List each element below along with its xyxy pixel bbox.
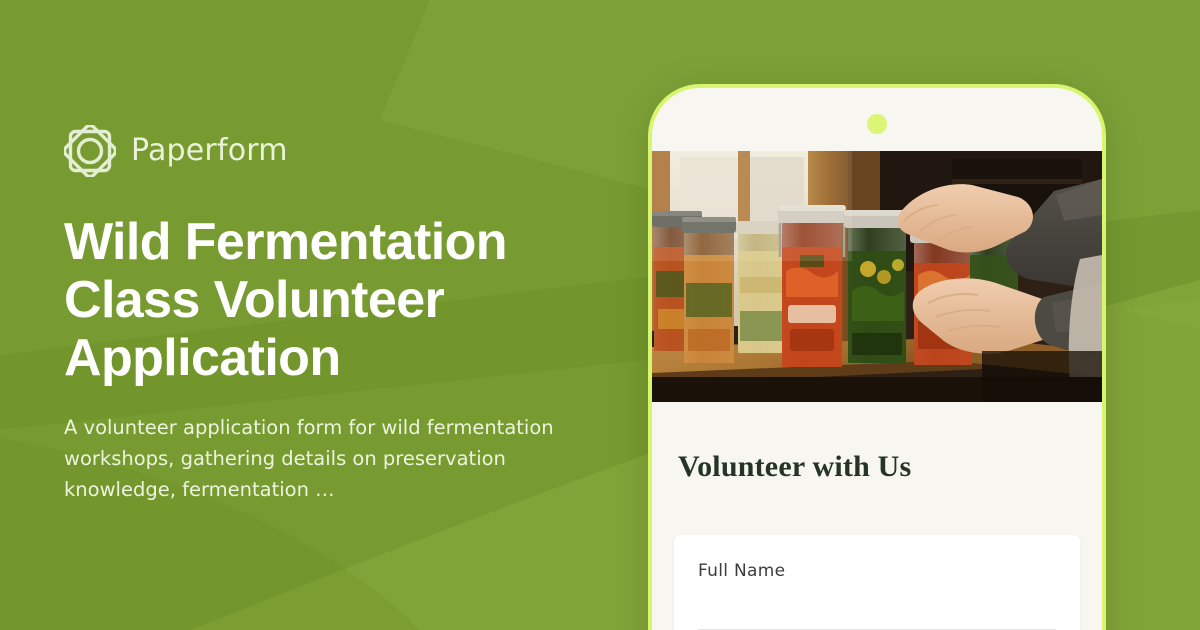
share-card: Paperform Wild Fermentation Class Volunt…: [0, 0, 1200, 630]
paperform-star-logo-icon: [64, 125, 116, 177]
form-field-full-name[interactable]: Full Name: [674, 535, 1080, 630]
page-title: Wild Fermentation Class Volunteer Applic…: [64, 213, 534, 388]
form-body: Volunteer with Us Full Name: [652, 402, 1102, 630]
field-label-full-name: Full Name: [698, 561, 1056, 581]
phone-mockup: Volunteer with Us Full Name: [648, 84, 1106, 630]
brand-lockup: Paperform: [64, 125, 624, 177]
camera-dot-icon: [867, 114, 887, 134]
form-title: Volunteer with Us: [678, 450, 1080, 484]
hero-photo: [652, 151, 1102, 402]
left-content: Paperform Wild Fermentation Class Volunt…: [64, 0, 624, 630]
page-description: A volunteer application form for wild fe…: [64, 413, 574, 505]
brand-wordmark: Paperform: [131, 136, 288, 166]
phone-screen: Volunteer with Us Full Name: [652, 88, 1102, 630]
